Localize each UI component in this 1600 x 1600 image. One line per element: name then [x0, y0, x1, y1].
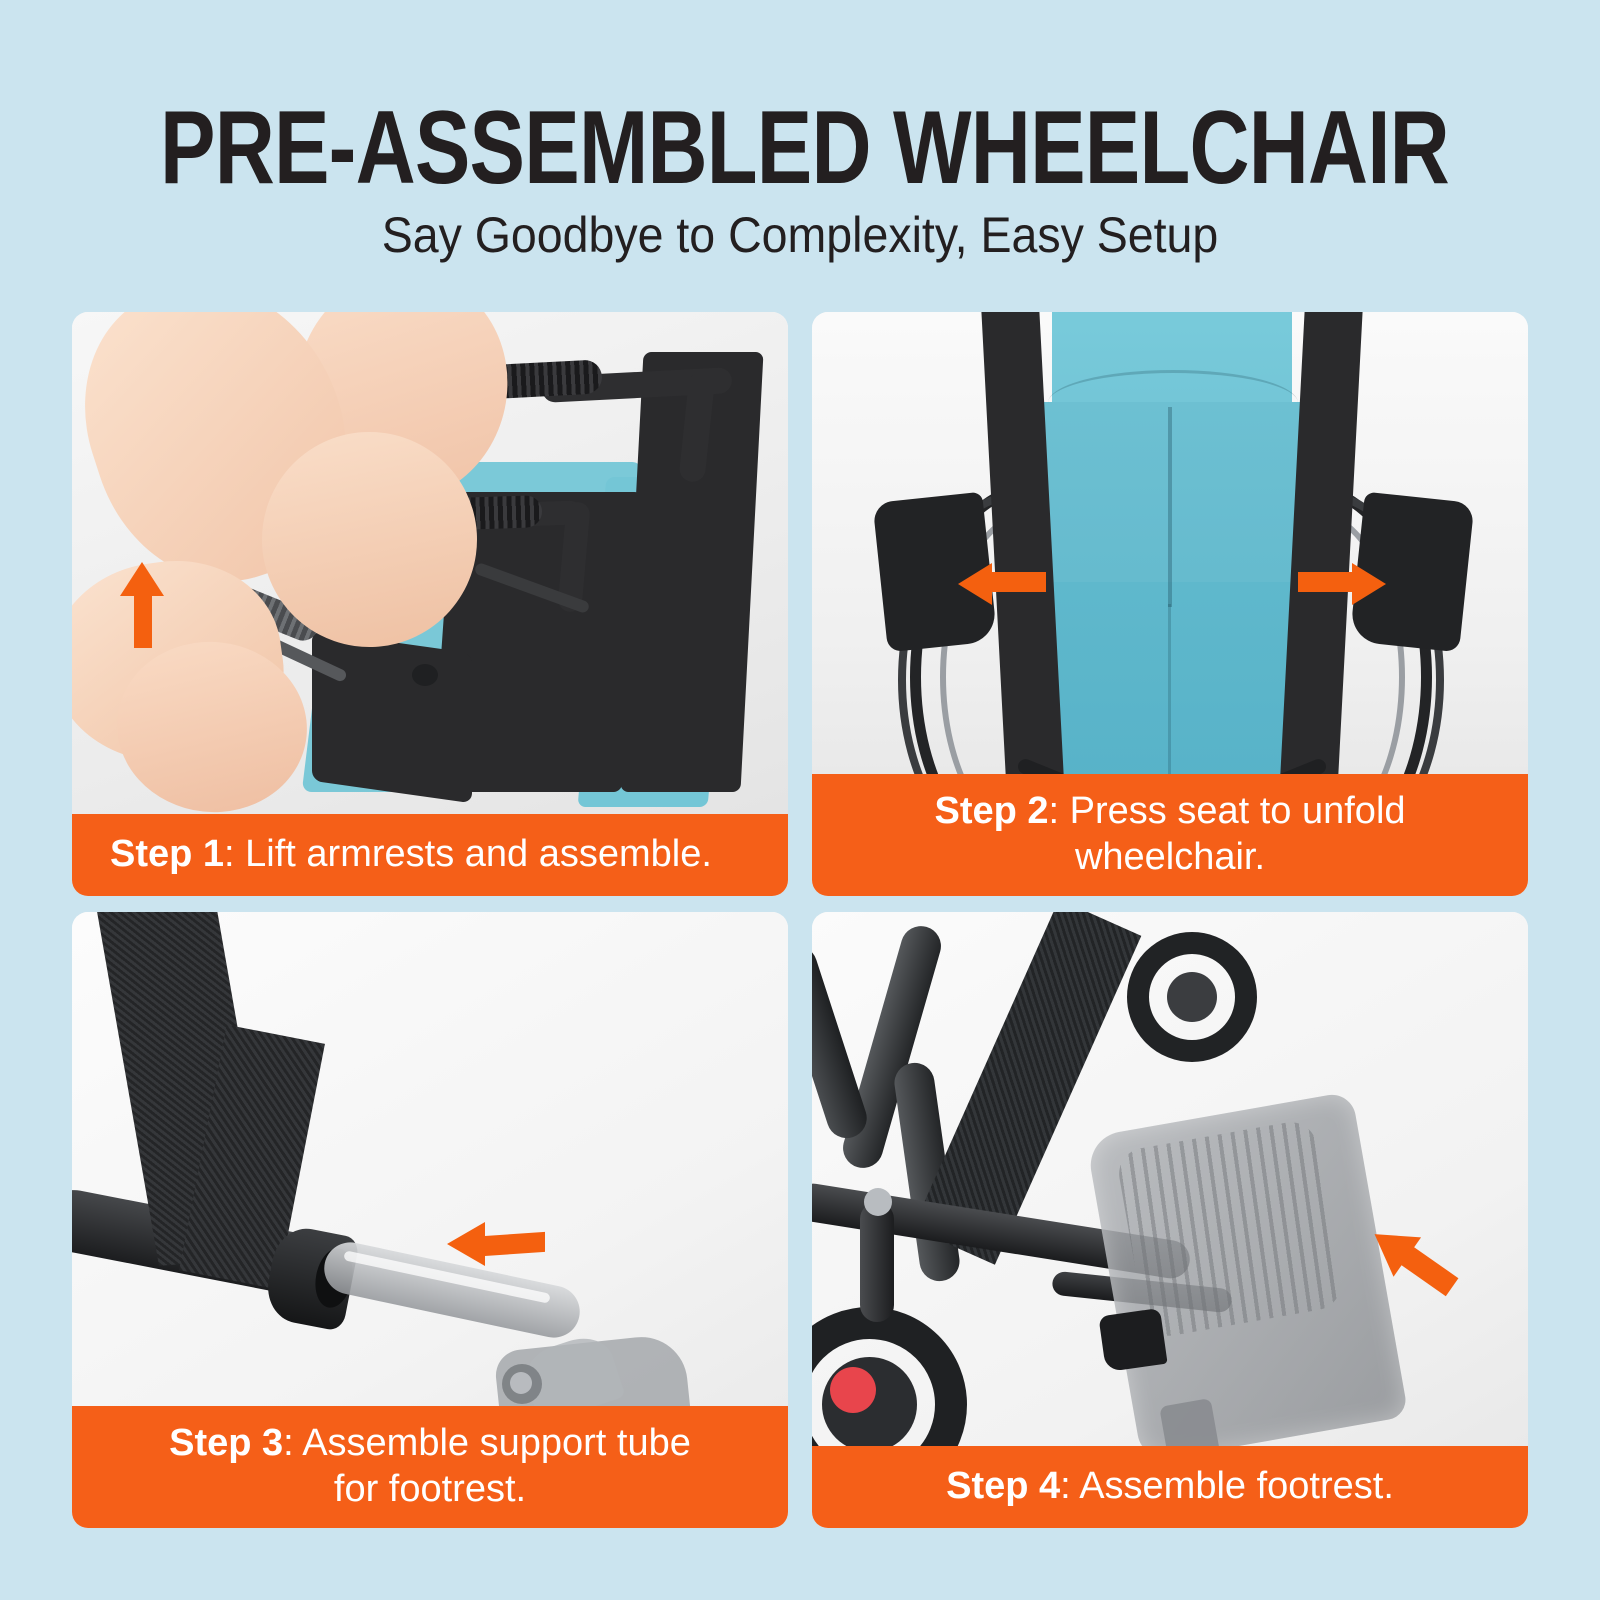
step-panel-1: Step 1: Lift armrests and assemble.	[72, 312, 788, 896]
step-3-text-line-1: Assemble support tube	[302, 1422, 691, 1464]
step-1-caption: Step 1: Lift armrests and assemble.	[72, 814, 788, 896]
step-1-text: Lift armrests and assemble.	[245, 833, 712, 875]
step-2-separator: :	[1049, 790, 1070, 832]
header: PRE-ASSEMBLED WHEELCHAIR Say Goodbye to …	[0, 0, 1600, 300]
step-2-photo	[812, 312, 1528, 774]
step-4-caption: Step 4: Assemble footrest.	[812, 1446, 1528, 1528]
right-arrow-icon	[1296, 560, 1386, 602]
step-2-label: Step 2	[934, 790, 1048, 832]
step-2-text-line-2: wheelchair.	[1075, 836, 1265, 878]
steps-grid: Step 1: Lift armrests and assemble.	[72, 312, 1528, 1528]
page-subtitle: Say Goodbye to Complexity, Easy Setup	[56, 206, 1544, 264]
page-title: PRE-ASSEMBLED WHEELCHAIR	[160, 96, 1440, 200]
step-1-separator: :	[224, 833, 245, 875]
step-4-separator: :	[1060, 1465, 1079, 1507]
step-3-label: Step 3	[169, 1422, 283, 1464]
step-4-label: Step 4	[946, 1465, 1060, 1507]
red-hub-cap	[830, 1367, 876, 1413]
step-3-photo	[72, 912, 788, 1406]
step-panel-3: Step 3: Assemble support tubefor footres…	[72, 912, 788, 1528]
step-3-caption: Step 3: Assemble support tubefor footres…	[72, 1406, 788, 1528]
up-arrow-icon	[120, 562, 166, 652]
step-3-separator: :	[283, 1422, 302, 1464]
step-panel-4: Step 4: Assemble footrest.	[812, 912, 1528, 1528]
step-3-text-line-2: for footrest.	[334, 1468, 526, 1510]
step-2-caption: Step 2: Press seat to unfoldwheelchair.	[812, 774, 1528, 896]
step-1-label: Step 1	[110, 833, 224, 875]
step-2-text-line-1: Press seat to unfold	[1070, 790, 1406, 832]
step-panel-2: Step 2: Press seat to unfoldwheelchair.	[812, 312, 1528, 896]
left-arrow-icon	[958, 560, 1048, 602]
step-4-photo	[812, 912, 1528, 1446]
left-arrow-icon	[447, 1222, 547, 1266]
step-4-text: Assemble footrest.	[1079, 1465, 1394, 1507]
step-1-photo	[72, 312, 788, 814]
